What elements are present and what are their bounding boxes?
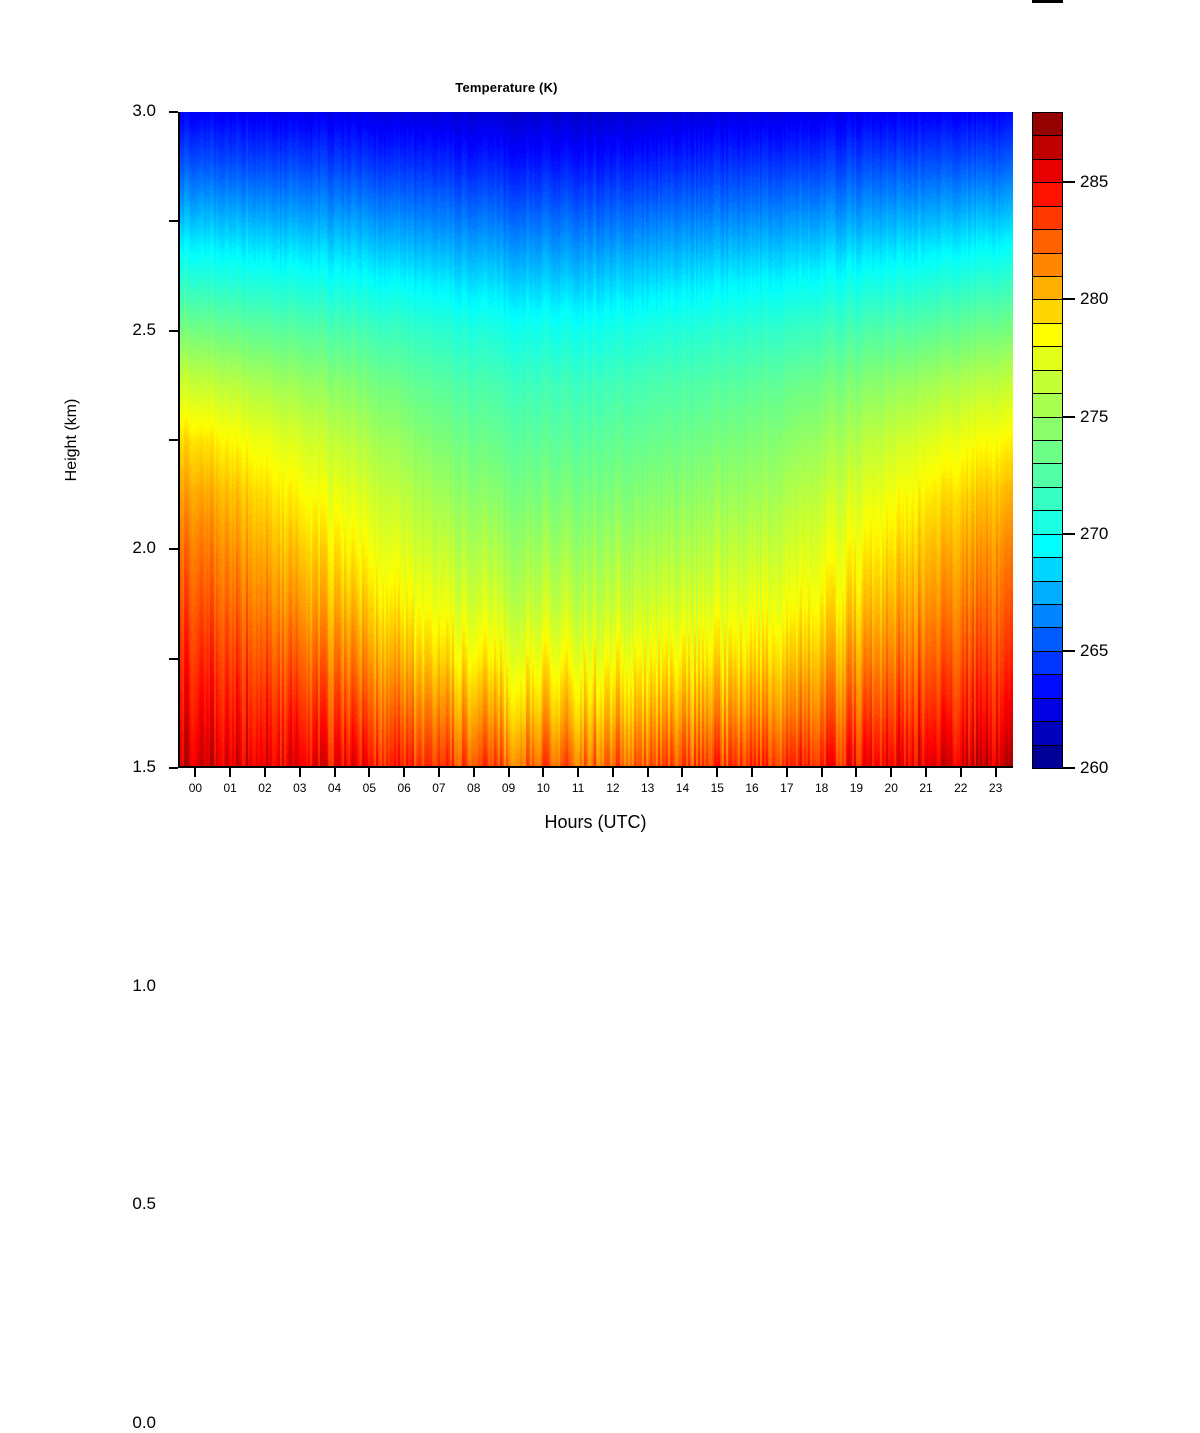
colorbar-block (1032, 135, 1063, 159)
x-axis-tick-label: 20 (885, 781, 898, 795)
y-axis-tick: 1.0 (169, 548, 178, 550)
y-axis-tick-label: 0.5 (132, 1194, 156, 1214)
colorbar-tick-label: 285 (1080, 172, 1108, 192)
x-axis-tick-label: 02 (258, 781, 271, 795)
x-axis-tick (995, 768, 997, 777)
x-axis-tick (438, 768, 440, 777)
colorbar-block (1032, 159, 1063, 183)
x-axis-tick (403, 768, 405, 777)
y-axis-tick-label: 0.0 (132, 1413, 156, 1433)
x-axis-tick (855, 768, 857, 777)
x-axis-tick-label: 12 (606, 781, 619, 795)
x-axis-tick-label: 05 (363, 781, 376, 795)
y-axis-tick: 0.5 (169, 658, 178, 660)
colorbar-block (1032, 253, 1063, 277)
colorbar[interactable]: 260265270275280285 (1032, 112, 1063, 768)
x-axis-tick (334, 768, 336, 777)
y-axis-tick-label: 3.0 (132, 101, 156, 121)
colorbar-block (1032, 206, 1063, 230)
colorbar-block (1032, 276, 1063, 300)
x-axis-tick (716, 768, 718, 777)
x-axis-tick (786, 768, 788, 777)
clipped-top-rule (1032, 0, 1063, 3)
x-axis-tick-label: 09 (502, 781, 515, 795)
colorbar-block (1032, 112, 1063, 136)
x-axis-tick (890, 768, 892, 777)
x-axis-tick-label: 00 (189, 781, 202, 795)
colorbar-block (1032, 346, 1063, 370)
x-axis-tick (542, 768, 544, 777)
y-axis-tick: 2.5 (169, 220, 178, 222)
x-axis-tick-label: 23 (989, 781, 1002, 795)
colorbar-tick-label: 265 (1080, 641, 1108, 661)
colorbar-block (1032, 674, 1063, 698)
x-axis-tick-label: 11 (572, 781, 584, 795)
x-axis-tick (612, 768, 614, 777)
x-axis-tick-label: 03 (293, 781, 306, 795)
colorbar-block (1032, 510, 1063, 534)
colorbar-block (1032, 182, 1063, 206)
plot-area[interactable]: 0.00.51.01.52.02.53.0 000102030405060708… (178, 112, 1013, 768)
x-axis-tick-label: 04 (328, 781, 341, 795)
colorbar-tick (1063, 416, 1075, 418)
x-axis-tick-label: 18 (815, 781, 828, 795)
colorbar-block (1032, 229, 1063, 253)
colorbar-block (1032, 417, 1063, 441)
colorbar-tick-label: 280 (1080, 289, 1108, 309)
y-axis-tick-label: 1.0 (132, 976, 156, 996)
colorbar-block (1032, 581, 1063, 605)
x-axis-tick-label: 07 (432, 781, 445, 795)
colorbar-block (1032, 534, 1063, 558)
colorbar-tick-label: 260 (1080, 758, 1108, 778)
x-axis-tick (681, 768, 683, 777)
x-axis-tick (960, 768, 962, 777)
colorbar-block (1032, 698, 1063, 722)
y-axis-tick: 2.0 (169, 330, 178, 332)
x-axis-tick-label: 08 (467, 781, 480, 795)
colorbar-tick (1063, 298, 1075, 300)
x-axis-tick (508, 768, 510, 777)
colorbar-block (1032, 393, 1063, 417)
x-axis-tick (194, 768, 196, 777)
x-axis-tick (751, 768, 753, 777)
colorbar-block (1032, 487, 1063, 511)
colorbar-block (1032, 721, 1063, 745)
colorbar-tick (1063, 767, 1075, 769)
colorbar-block (1032, 463, 1063, 487)
colorbar-block (1032, 440, 1063, 464)
colorbar-block (1032, 370, 1063, 394)
x-axis-tick (368, 768, 370, 777)
colorbar-block (1032, 557, 1063, 581)
y-axis-tick: 3.0 (169, 111, 178, 113)
colorbar-tick (1063, 181, 1075, 183)
x-axis-tick-label: 14 (676, 781, 689, 795)
x-axis-tick-label: 19 (850, 781, 863, 795)
x-axis-tick (299, 768, 301, 777)
y-axis-tick-label: 1.5 (132, 757, 156, 777)
x-axis-tick-label: 22 (954, 781, 967, 795)
colorbar-block (1032, 604, 1063, 628)
x-axis-tick-label: 06 (397, 781, 410, 795)
x-axis-tick (647, 768, 649, 777)
chart-title: Temperature (K) (0, 80, 1013, 95)
x-axis-tick-label: 13 (641, 781, 654, 795)
x-axis-tick-label: 21 (919, 781, 932, 795)
y-axis-tick: 0.0 (169, 767, 178, 769)
x-axis-tick (229, 768, 231, 777)
colorbar-block (1032, 299, 1063, 323)
x-axis-tick (473, 768, 475, 777)
y-axis-title: Height (km) (63, 399, 81, 482)
heatmap-canvas[interactable] (178, 112, 1013, 768)
colorbar-block (1032, 745, 1063, 769)
colorbar-tick-label: 270 (1080, 524, 1108, 544)
x-axis-tick (821, 768, 823, 777)
colorbar-tick (1063, 533, 1075, 535)
colorbar-block (1032, 323, 1063, 347)
x-axis-tick (577, 768, 579, 777)
x-axis-tick (925, 768, 927, 777)
x-axis-tick-label: 01 (224, 781, 237, 795)
x-axis-tick-label: 15 (711, 781, 724, 795)
colorbar-block (1032, 627, 1063, 651)
temperature-time-height-figure: Temperature (K) 0.00.51.01.52.02.53.0 00… (0, 0, 1200, 900)
colorbar-tick-label: 275 (1080, 407, 1108, 427)
x-axis-tick-label: 10 (537, 781, 550, 795)
colorbar-tick (1063, 650, 1075, 652)
y-axis-tick-label: 2.5 (132, 320, 156, 340)
x-axis-title: Hours (UTC) (178, 812, 1013, 833)
x-axis-tick-label: 16 (745, 781, 758, 795)
y-axis-tick: 1.5 (169, 439, 178, 441)
y-axis-tick-label: 2.0 (132, 538, 156, 558)
colorbar-block (1032, 651, 1063, 675)
x-axis-tick-label: 17 (780, 781, 793, 795)
x-axis-tick (264, 768, 266, 777)
